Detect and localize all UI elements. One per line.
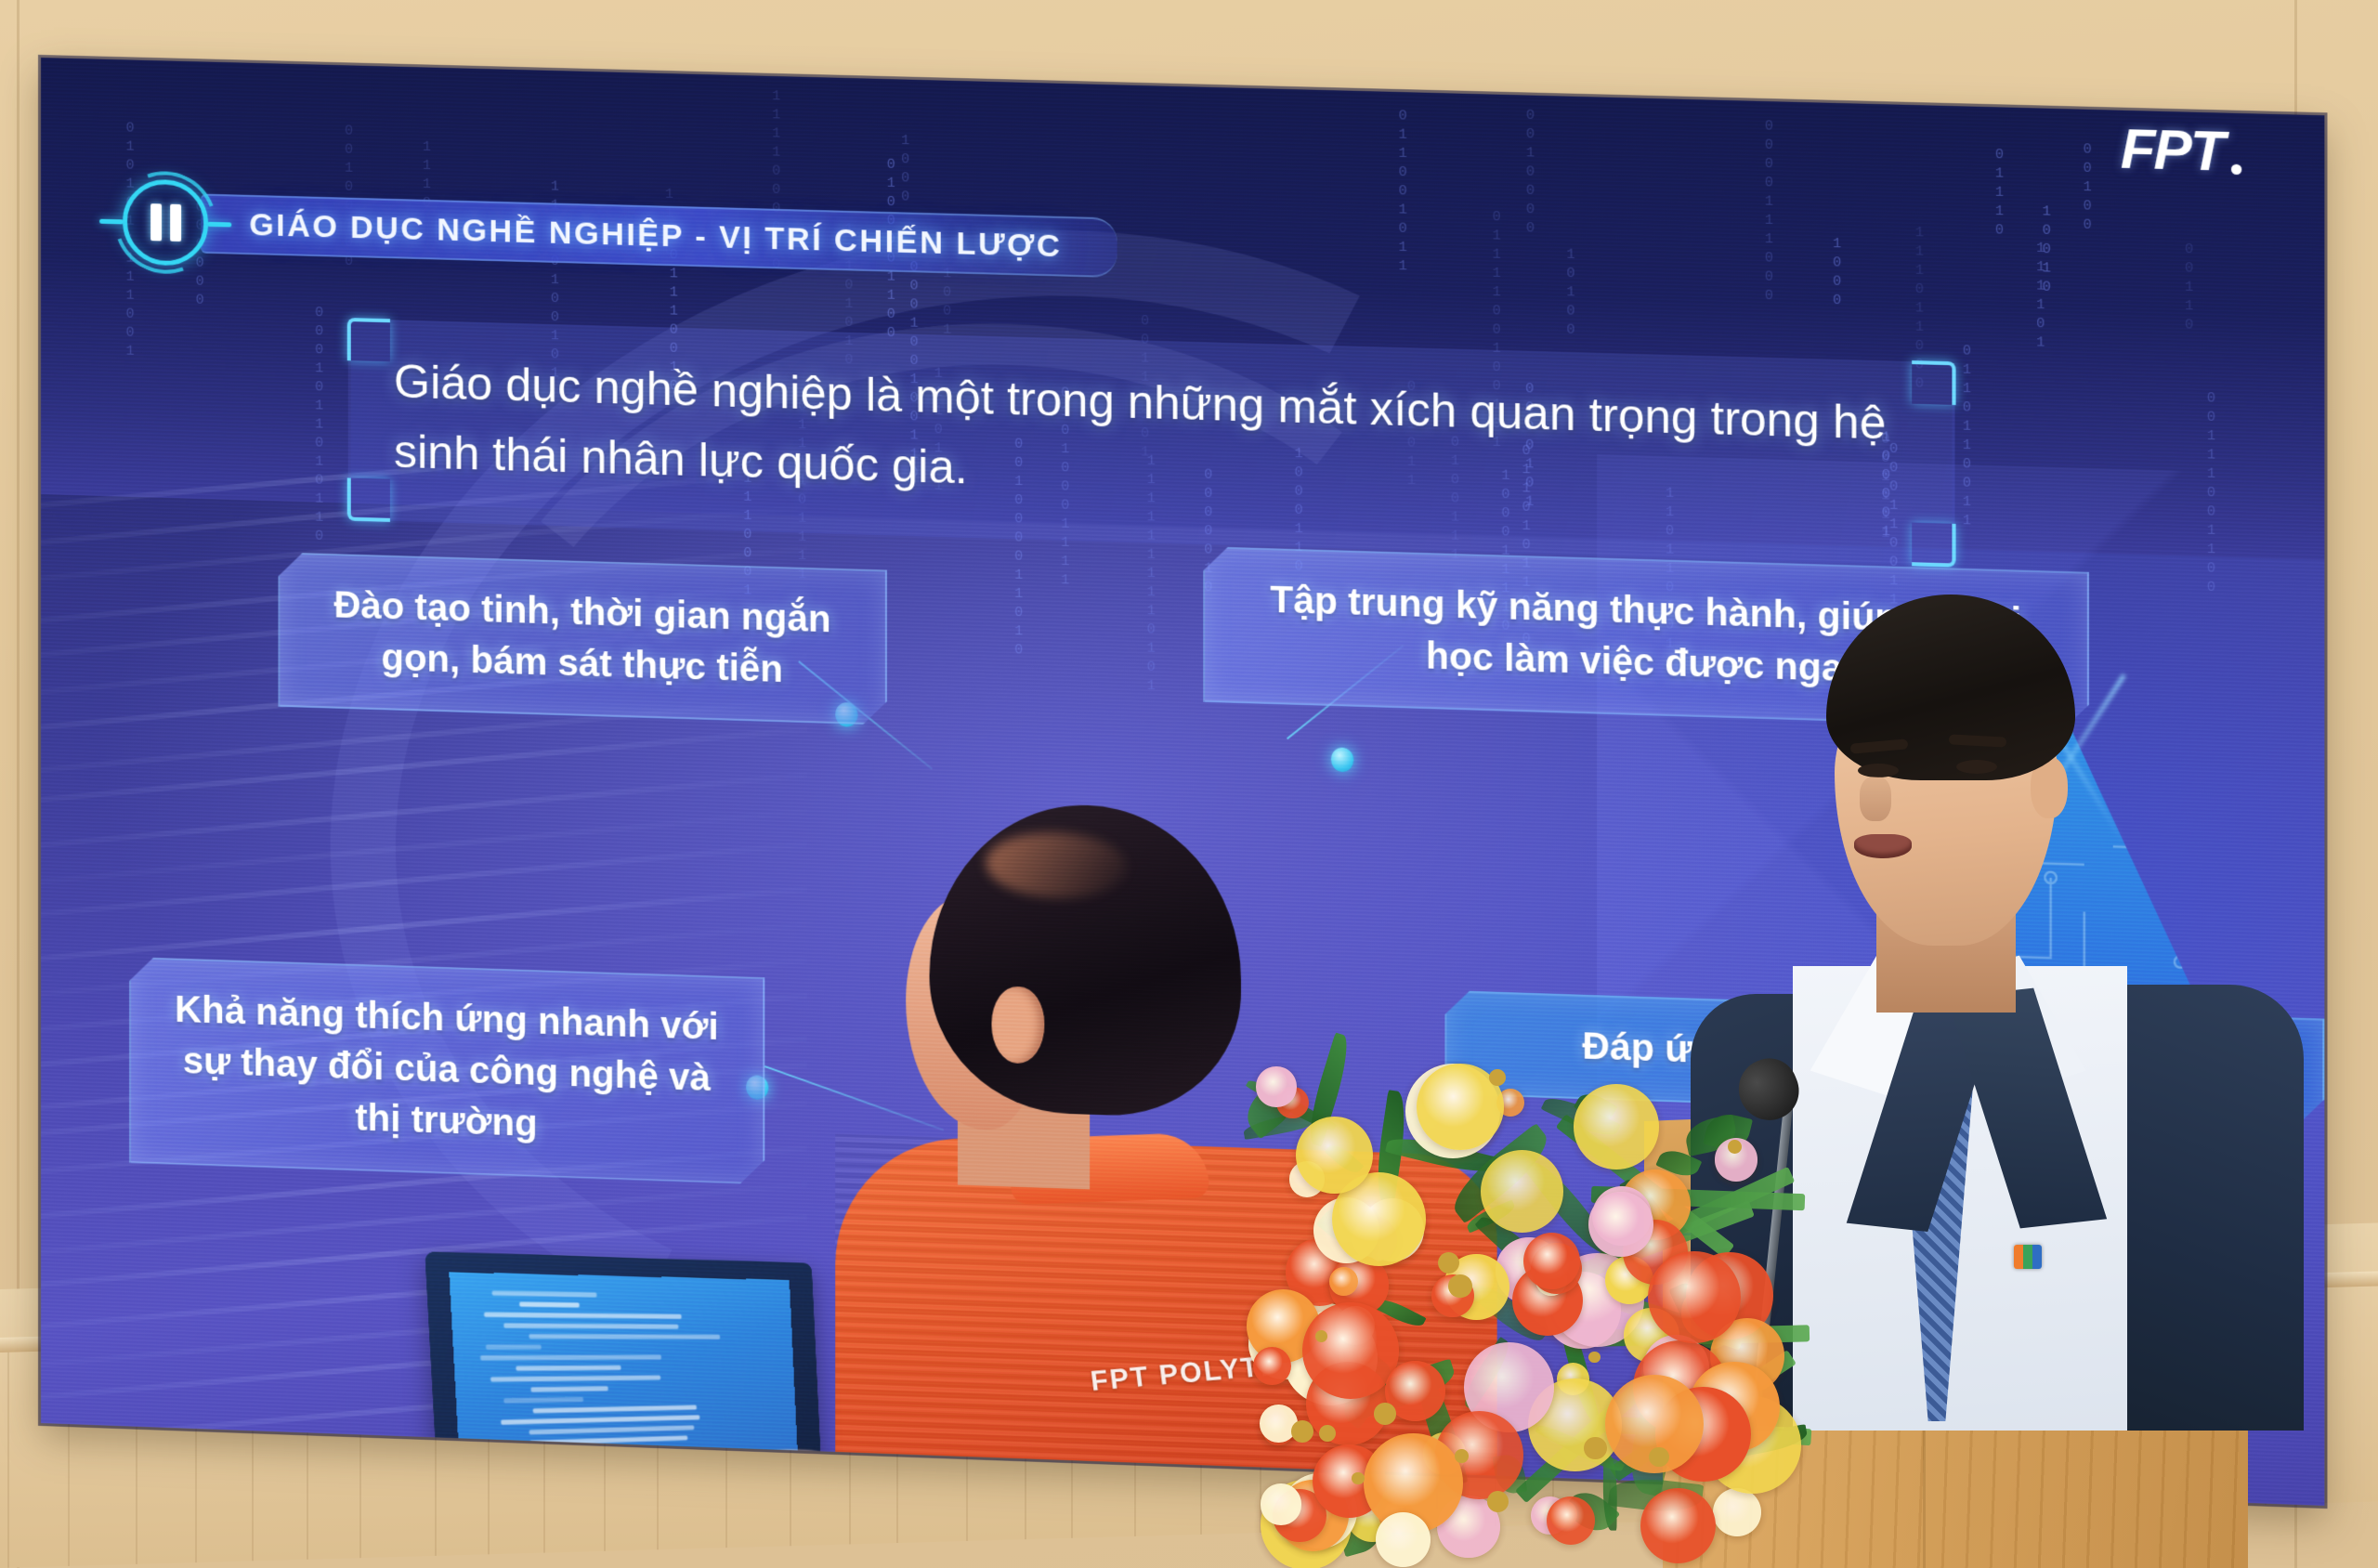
binary-column: 0 1 1 1 0 xyxy=(1995,146,2006,241)
feature-box-1: Đào tạo tinh, thời gian ngắn gọn, bám sá… xyxy=(278,552,886,725)
code-line xyxy=(492,1290,597,1297)
corner-bracket-br xyxy=(1912,523,1955,568)
fpt-lapel-pin-icon xyxy=(2014,1245,2042,1269)
code-line xyxy=(529,1425,694,1434)
speaker-nose xyxy=(1860,777,1891,821)
flower-blossom xyxy=(1256,1066,1297,1107)
flower-center xyxy=(1489,1069,1506,1086)
flower-center xyxy=(1728,1140,1742,1154)
corner-bracket-tl xyxy=(347,318,390,361)
binary-column: 0 0 1 0 0 xyxy=(2084,140,2094,235)
feature-box-1-text: Đào tạo tinh, thời gian ngắn gọn, bám sá… xyxy=(312,580,854,699)
flower-center xyxy=(1649,1447,1668,1467)
flower-blossom xyxy=(1574,1084,1659,1169)
binary-column: 1 0 0 1 0 xyxy=(2043,203,2053,297)
flower-blossom xyxy=(1261,1483,1302,1525)
binary-column: 0 0 0 0 1 1 1 0 0 0 xyxy=(1765,117,1775,306)
code-line xyxy=(519,1302,580,1308)
code-line xyxy=(503,1323,679,1328)
fpt-logo: FPT xyxy=(2121,116,2242,185)
fpt-logo-dot xyxy=(2231,164,2241,175)
flower-blossom xyxy=(1523,1233,1580,1289)
section-marker-badge xyxy=(123,178,208,267)
code-line xyxy=(480,1355,661,1361)
code-line xyxy=(486,1345,542,1350)
flower-center xyxy=(1487,1491,1509,1512)
flower-center xyxy=(1588,1352,1601,1364)
flower-center xyxy=(1448,1274,1472,1299)
speaker-mouth xyxy=(1854,834,1912,858)
binary-column: 1 0 0 0 xyxy=(901,132,911,207)
code-line xyxy=(529,1334,720,1339)
flower-blossom xyxy=(1253,1347,1291,1385)
slide-headline-text: Giáo dục nghề nghiệp là một trong những … xyxy=(394,346,1914,529)
flower-blossom xyxy=(1302,1302,1399,1399)
flower-blossom xyxy=(1376,1512,1431,1567)
binary-column: 0 1 1 0 0 1 0 1 1 xyxy=(1399,107,1409,276)
slide-title-plate: GIÁO DỤC NGHỀ NGHIỆP - VỊ TRÍ CHIẾN LƯỢC xyxy=(201,194,1117,279)
speaker-person xyxy=(1718,595,2294,1431)
binary-column: 0 0 1 0 0 0 0 xyxy=(1526,107,1536,239)
wood-grain-line xyxy=(2325,1280,2327,1503)
flower-blossom xyxy=(1588,1192,1653,1257)
flower-blossom xyxy=(1481,1150,1563,1233)
speaker-eye-right xyxy=(1956,760,1997,774)
corner-bracket-tr xyxy=(1912,360,1955,405)
connector-node-2 xyxy=(1331,747,1353,772)
code-line xyxy=(503,1397,583,1404)
flower-center xyxy=(1319,1425,1336,1442)
flower-center xyxy=(1352,1472,1364,1484)
flower-center xyxy=(1374,1403,1396,1425)
corner-bracket-bl xyxy=(347,477,390,521)
binary-column: 1 0 1 0 0 xyxy=(1566,246,1576,341)
flower-blossom xyxy=(1296,1117,1373,1194)
flower-blossom xyxy=(1648,1251,1741,1344)
code-line xyxy=(490,1375,661,1381)
flower-bouquet xyxy=(1208,994,1802,1568)
code-line xyxy=(533,1405,697,1414)
flower-center xyxy=(1291,1420,1313,1443)
flower-blossom xyxy=(1713,1488,1761,1536)
code-line xyxy=(516,1365,621,1371)
code-line xyxy=(530,1386,608,1392)
binary-column: 1 0 0 0 xyxy=(1833,235,1843,310)
slide-title: GIÁO DỤC NGHỀ NGHIỆP - VỊ TRÍ CHIẾN LƯỢC xyxy=(249,206,1062,264)
speaker-eye-left xyxy=(1858,764,1899,777)
flower-blossom xyxy=(1640,1488,1716,1563)
feature-box-3-text: Khả năng thích ứng nhanh với sự thay đổi… xyxy=(163,984,731,1156)
code-line xyxy=(484,1313,681,1319)
flower-center xyxy=(1455,1449,1469,1463)
light-streak xyxy=(41,803,807,896)
flower-blossom xyxy=(1547,1496,1595,1545)
wood-grain-line xyxy=(7,1345,9,1568)
student-ear xyxy=(991,986,1044,1064)
code-line xyxy=(501,1415,700,1425)
fpt-logo-text: FPT xyxy=(2121,116,2224,184)
binary-column: 0 0 1 1 0 xyxy=(2185,241,2195,335)
light-streak xyxy=(41,836,807,930)
feature-box-3: Khả năng thích ứng nhanh với sự thay đổi… xyxy=(129,957,764,1184)
